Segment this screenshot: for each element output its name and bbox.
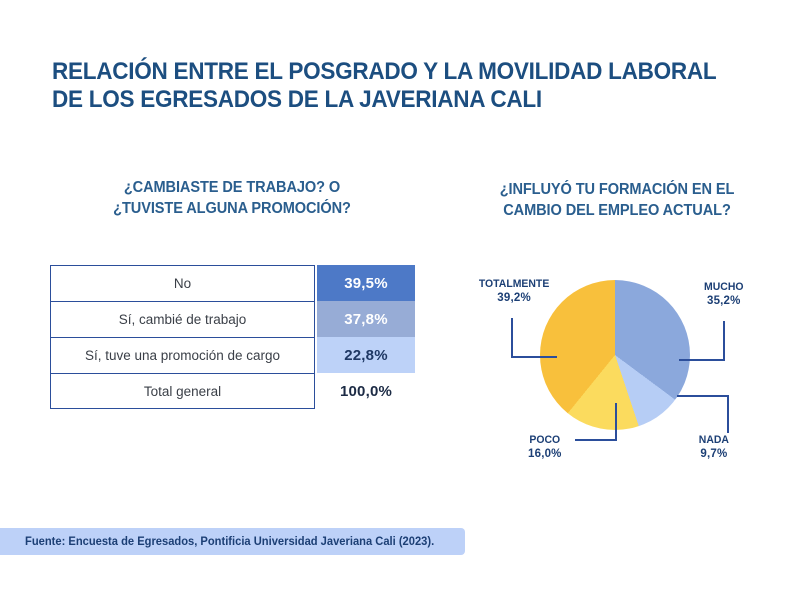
table-row: Total general 100,0% [50, 373, 415, 409]
page-title: RELACIÓN ENTRE EL POSGRADO Y LA MOVILIDA… [52, 58, 659, 115]
table-cell-value: 100,0% [317, 373, 415, 409]
table-cell-label: Sí, tuve una promoción de cargo [50, 337, 315, 373]
leader-line-mucho [679, 321, 725, 361]
pie-label-nada-name: NADA [699, 433, 729, 447]
right-section-heading-line-2: CAMBIO DEL EMPLEO ACTUAL? [462, 201, 772, 222]
pie-label-mucho: MUCHO 35,2% [703, 280, 745, 309]
right-section-heading-line-1: ¿INFLUYÓ TU FORMACIÓN EN EL [462, 180, 772, 201]
pie-label-totalmente: TOTALMENTE 39,2% [477, 277, 551, 306]
infographic-canvas: RELACIÓN ENTRE EL POSGRADO Y LA MOVILIDA… [0, 0, 800, 600]
left-section-heading-line-2: ¿TUVISTE ALGUNA PROMOCIÓN? [63, 199, 401, 220]
left-section-heading-line-1: ¿CAMBIASTE DE TRABAJO? O [63, 178, 401, 199]
source-footer-band: Fuente: Encuesta de Egresados, Pontifici… [0, 528, 465, 555]
leader-line-poco [575, 403, 617, 441]
right-section-heading: ¿INFLUYÓ TU FORMACIÓN EN EL CAMBIO DEL E… [452, 180, 782, 221]
page-title-line-1: RELACIÓN ENTRE EL POSGRADO Y LA MOVILIDA… [52, 58, 659, 86]
table-cell-label: Sí, cambié de trabajo [50, 301, 315, 337]
table-cell-label: Total general [50, 373, 315, 409]
table-row: Sí, tuve una promoción de cargo 22,8% [50, 337, 415, 373]
table-row: No 39,5% [50, 265, 415, 301]
source-footer-text: Fuente: Encuesta de Egresados, Pontifici… [25, 536, 434, 548]
pie-label-nada-value: 9,7% [698, 447, 730, 462]
table-row: Sí, cambié de trabajo 37,8% [50, 301, 415, 337]
table-cell-value: 22,8% [317, 337, 415, 373]
table-cell-value: 39,5% [317, 265, 415, 301]
pie-label-poco-value: 16,0% [528, 447, 562, 462]
table-cell-value: 37,8% [317, 301, 415, 337]
leader-line-totalmente [511, 318, 557, 358]
page-title-line-2: DE LOS EGRESADOS DE LA JAVERIANA CALI [52, 86, 659, 114]
pie-label-mucho-value: 35,2% [703, 294, 745, 309]
pie-label-totalmente-name: TOTALMENTE [479, 277, 549, 291]
left-section-heading: ¿CAMBIASTE DE TRABAJO? O ¿TUVISTE ALGUNA… [52, 178, 412, 219]
table-cell-label: No [50, 265, 315, 301]
pie-label-totalmente-value: 39,2% [477, 291, 551, 306]
pie-chart: TOTALMENTE 39,2% MUCHO 35,2% NADA 9,7% P… [455, 255, 785, 495]
pie-label-mucho-name: MUCHO [704, 280, 743, 294]
pie-label-poco-name: POCO [529, 433, 561, 447]
response-table: No 39,5% Sí, cambié de trabajo 37,8% Sí,… [50, 265, 415, 409]
pie-label-poco: POCO 16,0% [528, 433, 562, 462]
pie-label-nada: NADA 9,7% [698, 433, 730, 462]
leader-line-nada [677, 395, 729, 433]
